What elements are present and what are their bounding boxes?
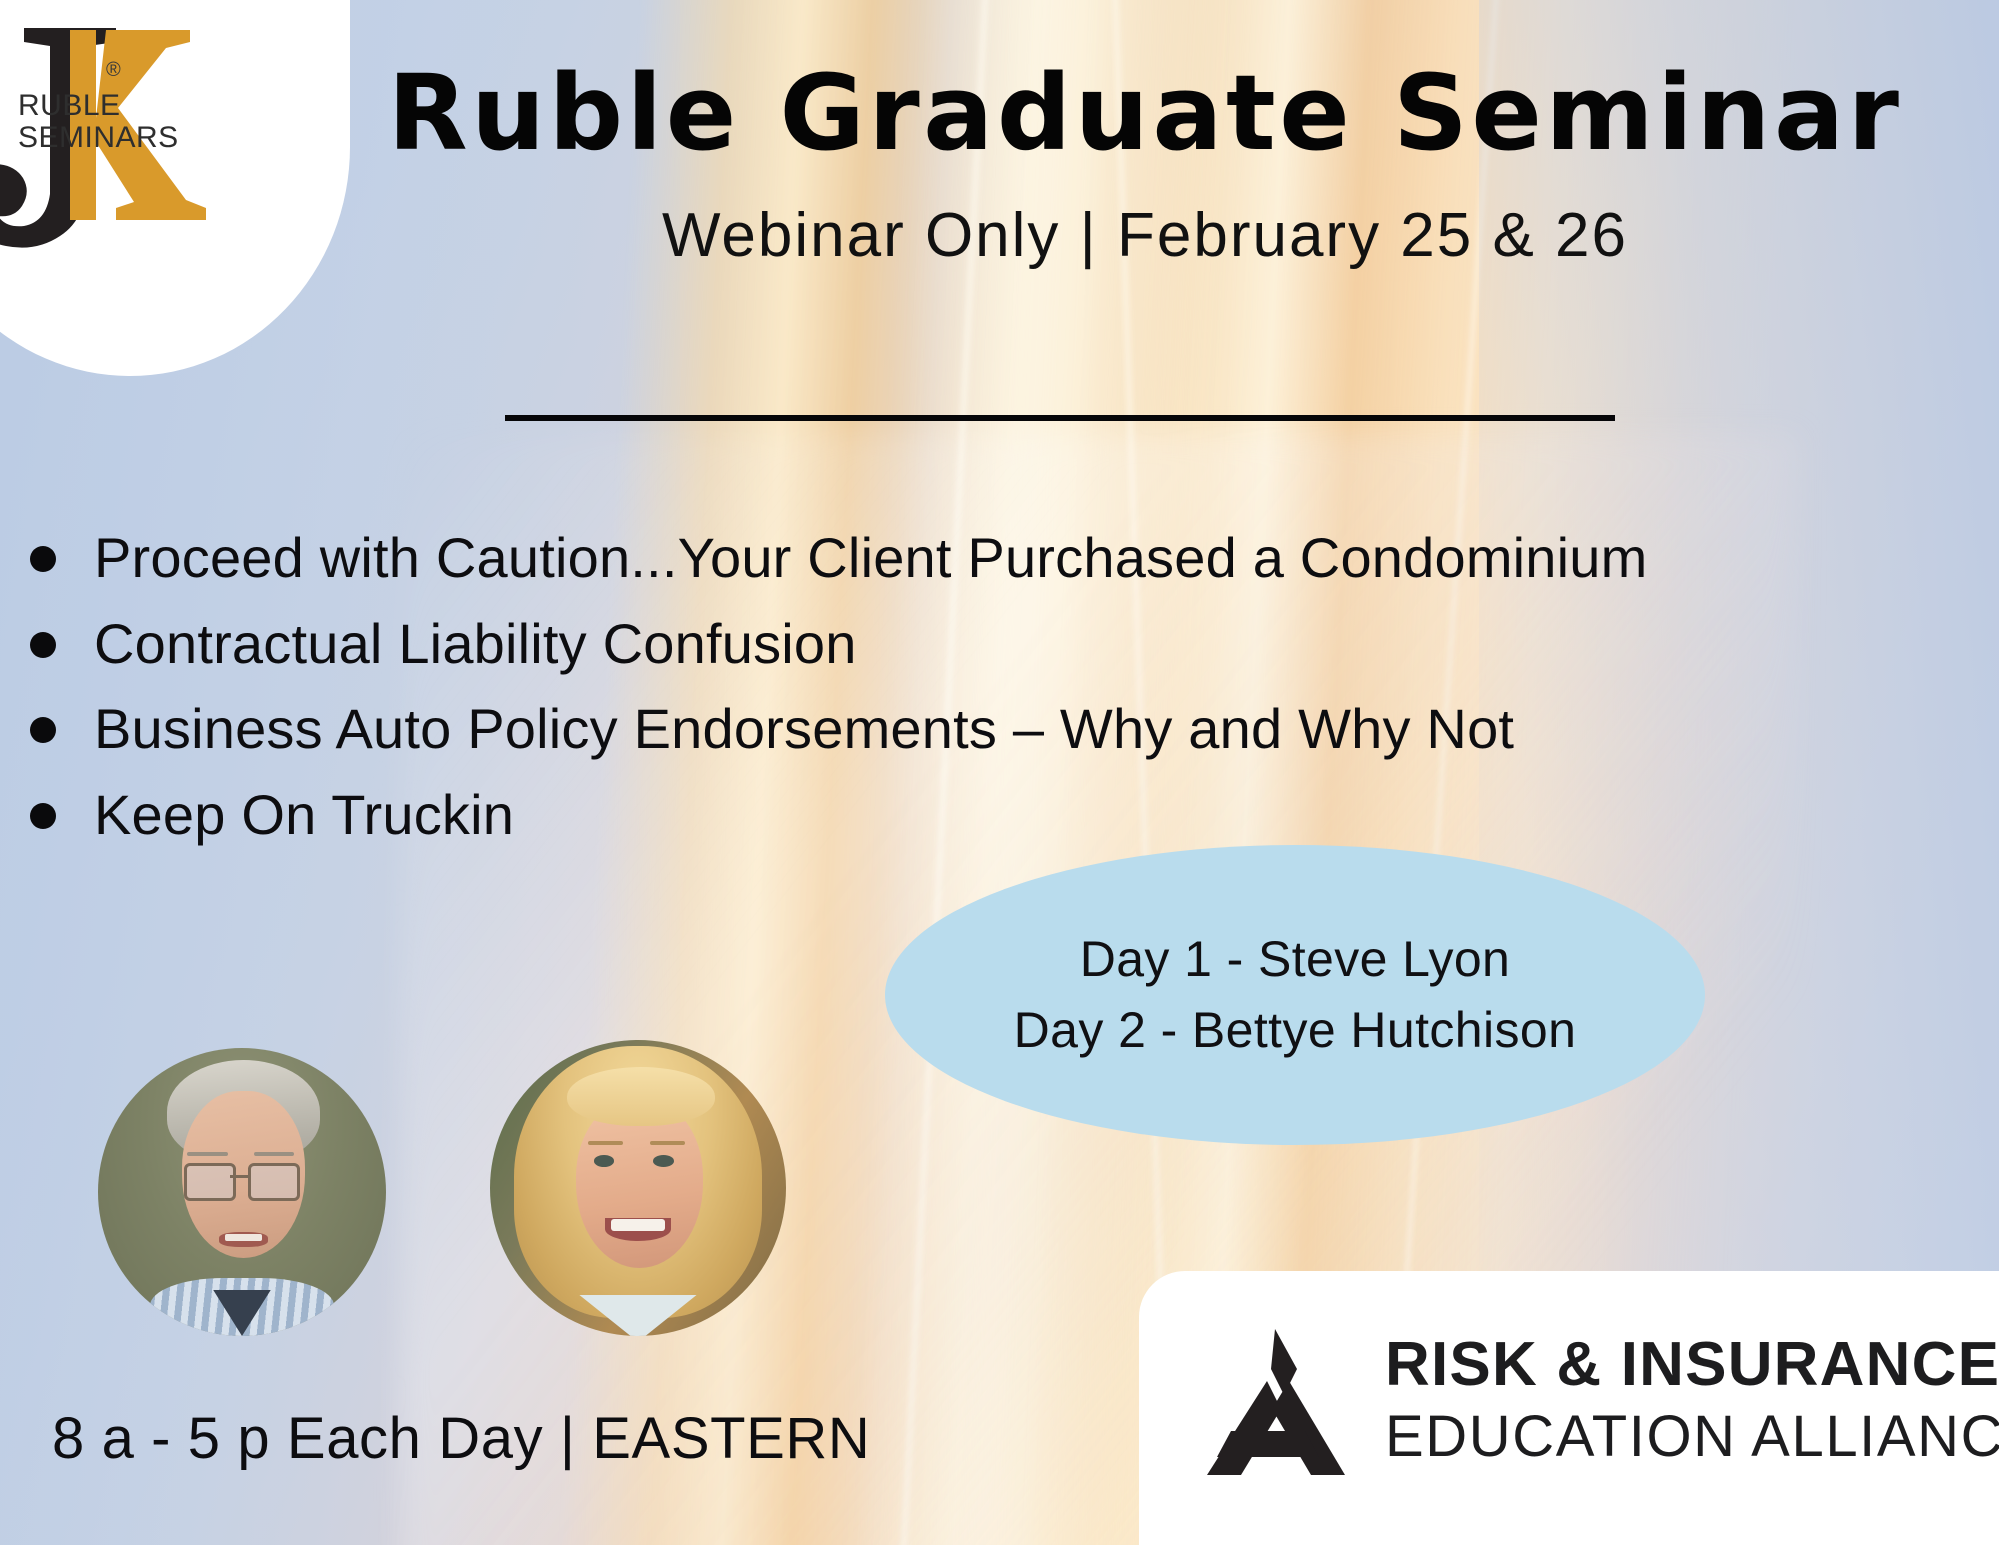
portrait-teeth xyxy=(225,1234,262,1241)
bullet-icon xyxy=(30,717,56,743)
jk-logo-word-line1: RUBLE xyxy=(18,90,179,122)
registered-trademark-icon: ® xyxy=(106,59,121,82)
portrait-eyebrow xyxy=(650,1141,686,1145)
bullet-icon xyxy=(30,803,56,829)
jk-logo-wordmark: RUBLE SEMINARS xyxy=(18,90,179,154)
alliance-triangle-icon xyxy=(1201,1325,1351,1475)
alliance-logo: RISK & INSURANCE EDUCATION ALLIANCE xyxy=(1201,1325,1999,1475)
list-item: Contractual Liability Confusion xyxy=(22,608,1972,680)
portrait-eyebrow xyxy=(588,1141,624,1145)
speaker-day2: Day 2 - Bettye Hutchison xyxy=(1014,995,1577,1066)
portrait-bangs xyxy=(567,1067,715,1126)
topic-label: Keep On Truckin xyxy=(94,779,514,851)
portrait-eyebrow xyxy=(187,1152,227,1156)
speaker-day1: Day 1 - Steve Lyon xyxy=(1080,924,1511,995)
schedule-text: 8 a - 5 p Each Day | EASTERN xyxy=(52,1405,870,1472)
topic-label: Proceed with Caution...Your Client Purch… xyxy=(94,522,1648,594)
page-title: Ruble Graduate Seminar xyxy=(300,52,1990,174)
portrait-eyebrow xyxy=(254,1152,294,1156)
jk-logo-word-line2: SEMINARS xyxy=(18,122,179,154)
portrait-eye xyxy=(653,1155,674,1167)
list-item: Proceed with Caution...Your Client Purch… xyxy=(22,522,1972,594)
steve-lyon-photo xyxy=(98,1048,386,1336)
topic-list: Proceed with Caution...Your Client Purch… xyxy=(22,522,1972,865)
bettye-hutchison-photo xyxy=(490,1040,786,1336)
eyeglasses-bridge xyxy=(230,1175,247,1178)
speaker-callout: Day 1 - Steve Lyon Day 2 - Bettye Hutchi… xyxy=(885,845,1705,1145)
alliance-logo-plate: RISK & INSURANCE EDUCATION ALLIANCE xyxy=(1139,1271,1999,1545)
alliance-line2: EDUCATION ALLIANCE xyxy=(1385,1408,1999,1466)
topic-label: Business Auto Policy Endorsements – Why … xyxy=(94,693,1514,765)
bullet-icon xyxy=(30,632,56,658)
alliance-line1: RISK & INSURANCE xyxy=(1385,1334,1999,1396)
list-item: Business Auto Policy Endorsements – Why … xyxy=(22,693,1972,765)
portrait-teeth xyxy=(611,1219,666,1230)
eyeglasses-icon xyxy=(184,1163,236,1201)
seminar-promo-poster: ® RUBLE SEMINARS Ruble Graduate Seminar … xyxy=(0,0,1999,1545)
alliance-wordmark: RISK & INSURANCE EDUCATION ALLIANCE xyxy=(1385,1334,1999,1466)
list-item: Keep On Truckin xyxy=(22,779,1972,851)
bullet-icon xyxy=(30,546,56,572)
eyeglasses-icon xyxy=(248,1163,300,1201)
page-subtitle: Webinar Only | February 25 & 26 xyxy=(300,200,1990,271)
divider xyxy=(505,415,1615,421)
topic-label: Contractual Liability Confusion xyxy=(94,608,857,680)
